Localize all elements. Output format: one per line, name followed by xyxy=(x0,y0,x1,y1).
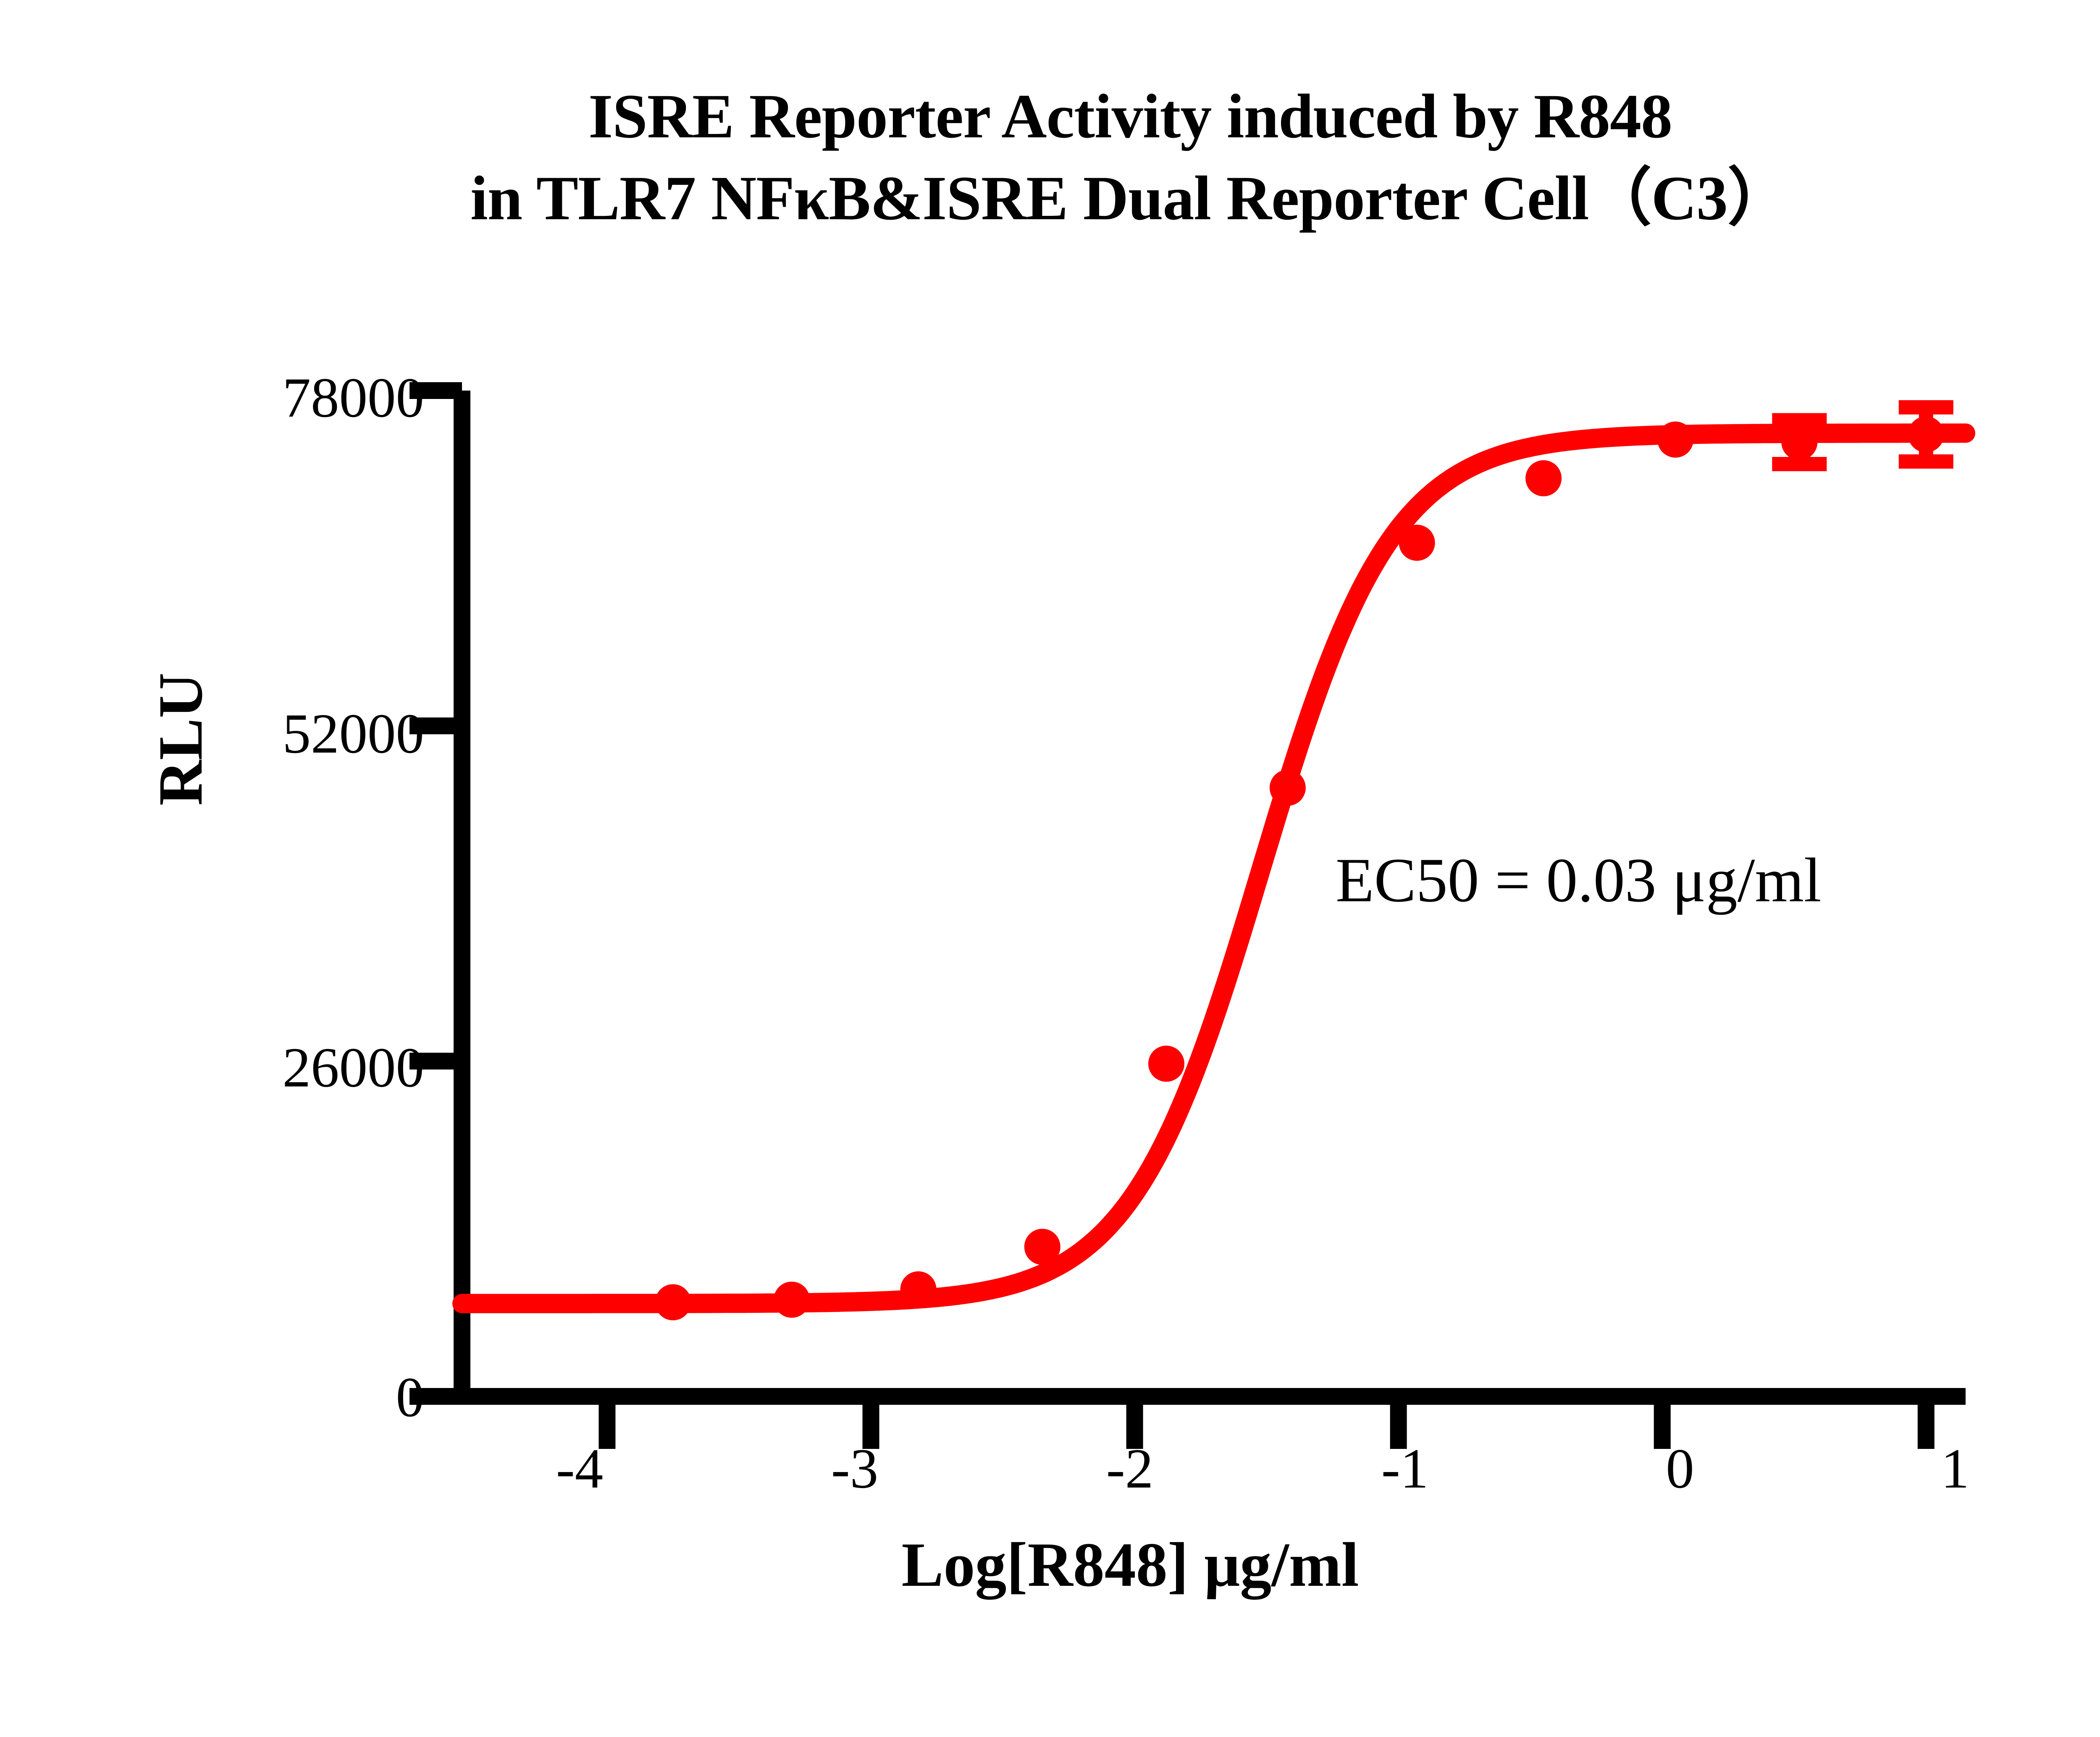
data-point xyxy=(774,1282,810,1318)
axis-lines xyxy=(454,391,1966,1401)
data-point xyxy=(1399,525,1435,561)
data-point xyxy=(1270,770,1306,806)
chart-figure: ISRE Reporter Activity induced by R848 i… xyxy=(0,0,2100,1737)
data-point xyxy=(1781,424,1817,460)
data-point xyxy=(900,1271,937,1307)
data-point xyxy=(1657,422,1693,458)
fit-curve xyxy=(462,433,1966,1304)
data-point xyxy=(1148,1046,1184,1082)
data-point xyxy=(1908,416,1944,452)
data-point xyxy=(655,1284,691,1320)
data-point xyxy=(1525,460,1562,496)
data-point-markers xyxy=(655,416,1944,1320)
data-point xyxy=(1024,1229,1060,1265)
plot-canvas xyxy=(0,0,2100,1737)
